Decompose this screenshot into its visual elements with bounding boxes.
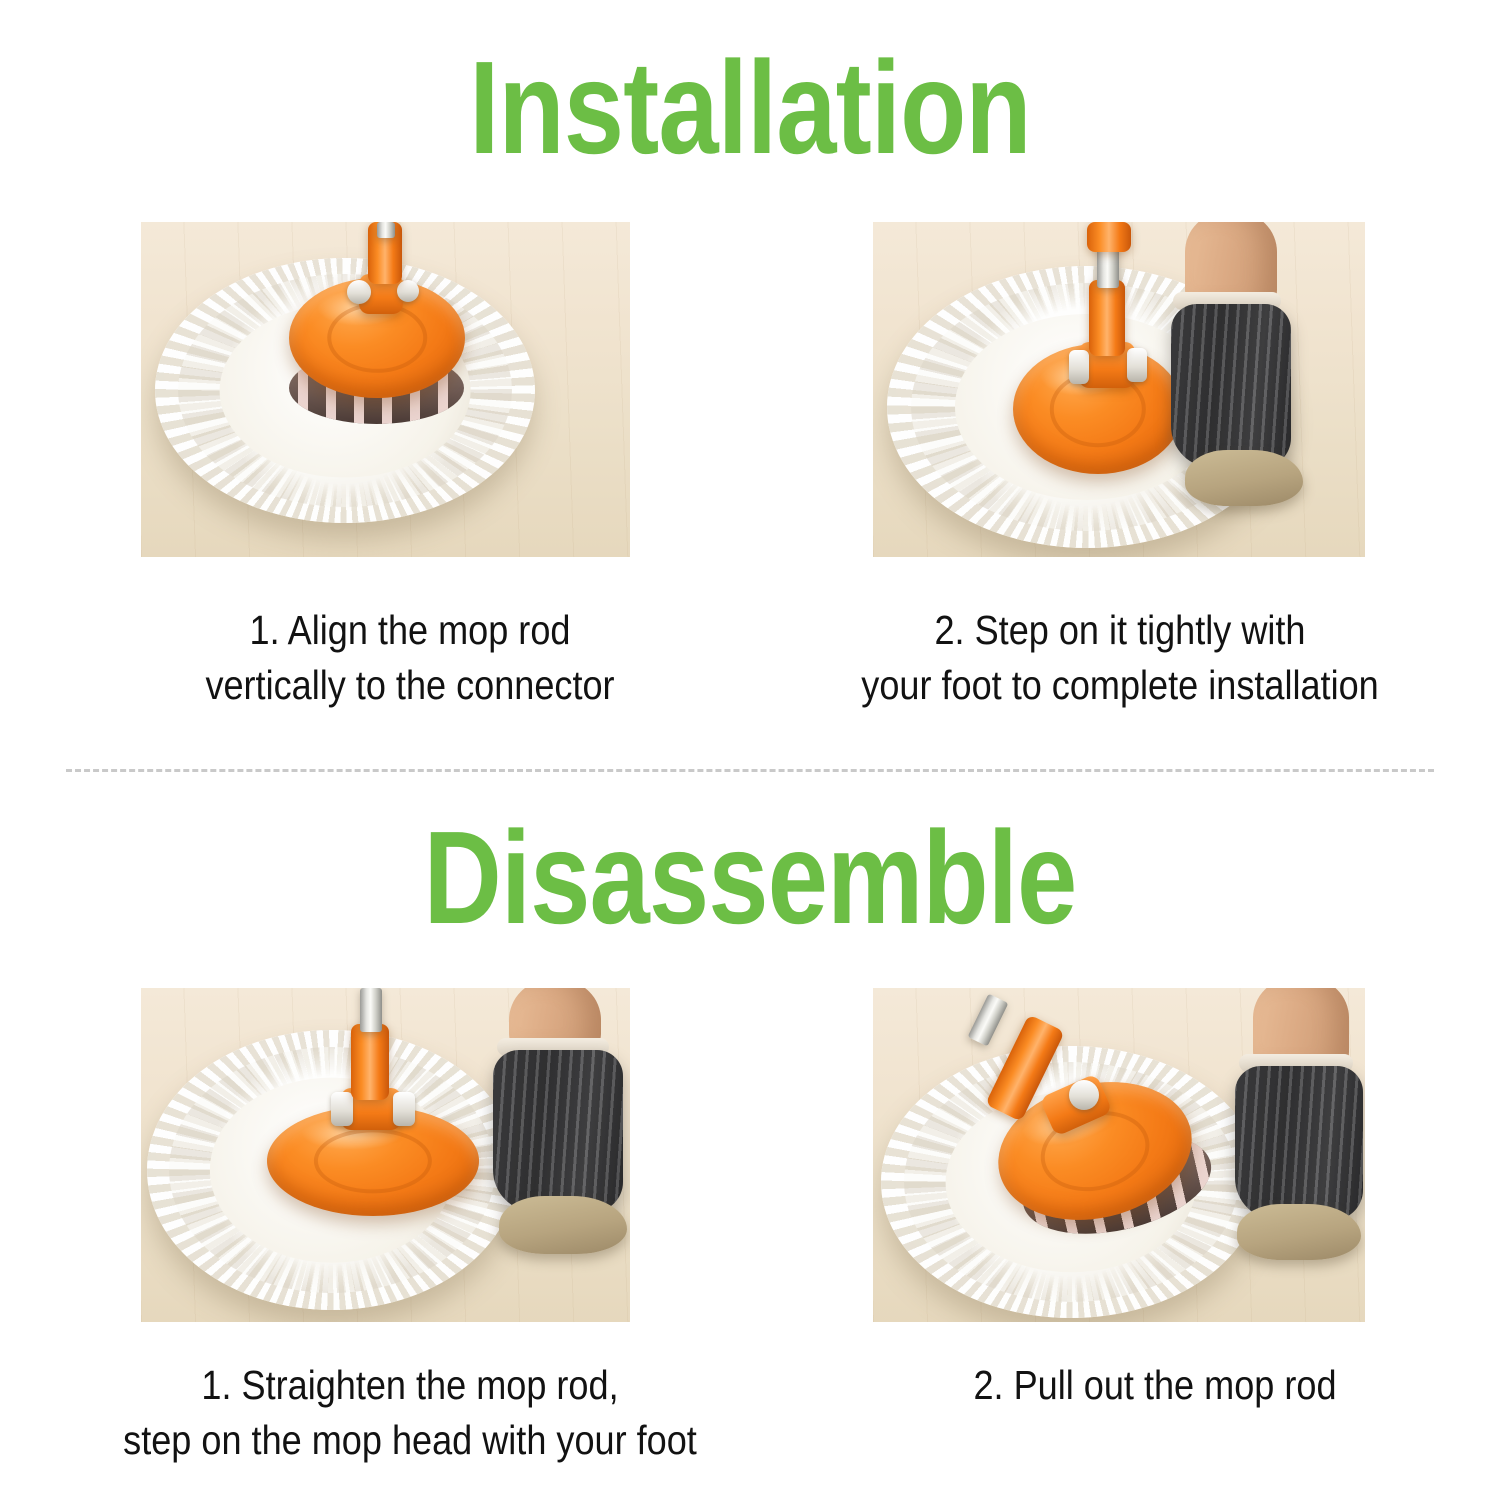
sock-ribbing bbox=[1171, 304, 1291, 468]
disc-ring bbox=[314, 1128, 432, 1193]
release-pin-right bbox=[397, 280, 419, 302]
orange-rod-upper bbox=[1087, 222, 1131, 252]
disassemble-step-2-photo bbox=[873, 988, 1365, 1322]
release-pin-right bbox=[1127, 348, 1147, 382]
release-pin-left bbox=[331, 1092, 353, 1126]
sock-ribbing bbox=[493, 1050, 623, 1212]
release-pin-right bbox=[393, 1092, 415, 1126]
gray-ribbed-sock bbox=[1235, 1066, 1363, 1220]
sock-toe bbox=[499, 1196, 627, 1254]
orange-rod-sleeve bbox=[351, 1024, 389, 1100]
installation-step-2-caption: 2. Step on it tightly with your foot to … bbox=[803, 603, 1437, 713]
disassemble-step-2-caption: 2. Pull out the mop rod bbox=[869, 1358, 1441, 1413]
release-pin-left bbox=[347, 280, 371, 304]
release-pin bbox=[1069, 1080, 1099, 1110]
section-title-disassemble: Disassemble bbox=[135, 808, 1365, 948]
gray-ribbed-sock bbox=[1171, 304, 1291, 468]
orange-rod-sleeve bbox=[1089, 280, 1125, 356]
sock-toe bbox=[1185, 450, 1303, 506]
infographic-sheet: Installation 1. Align the mop rod vertic… bbox=[0, 0, 1500, 1500]
gray-ribbed-sock bbox=[493, 1050, 623, 1212]
installation-step-2-photo bbox=[873, 222, 1365, 557]
disassemble-step-1-caption: 1. Straighten the mop rod, step on the m… bbox=[67, 1358, 753, 1468]
installation-step-1-caption: 1. Align the mop rod vertically to the c… bbox=[102, 603, 718, 713]
installation-step-1-photo bbox=[141, 222, 630, 557]
section-divider bbox=[66, 769, 1434, 772]
section-title-installation: Installation bbox=[135, 38, 1365, 178]
release-pin-left bbox=[1069, 350, 1089, 384]
steel-rod bbox=[360, 988, 382, 1032]
sock-ribbing bbox=[1235, 1066, 1363, 1220]
disassemble-step-1-photo bbox=[141, 988, 630, 1322]
sock-toe bbox=[1237, 1204, 1361, 1260]
steel-rod bbox=[377, 222, 395, 238]
